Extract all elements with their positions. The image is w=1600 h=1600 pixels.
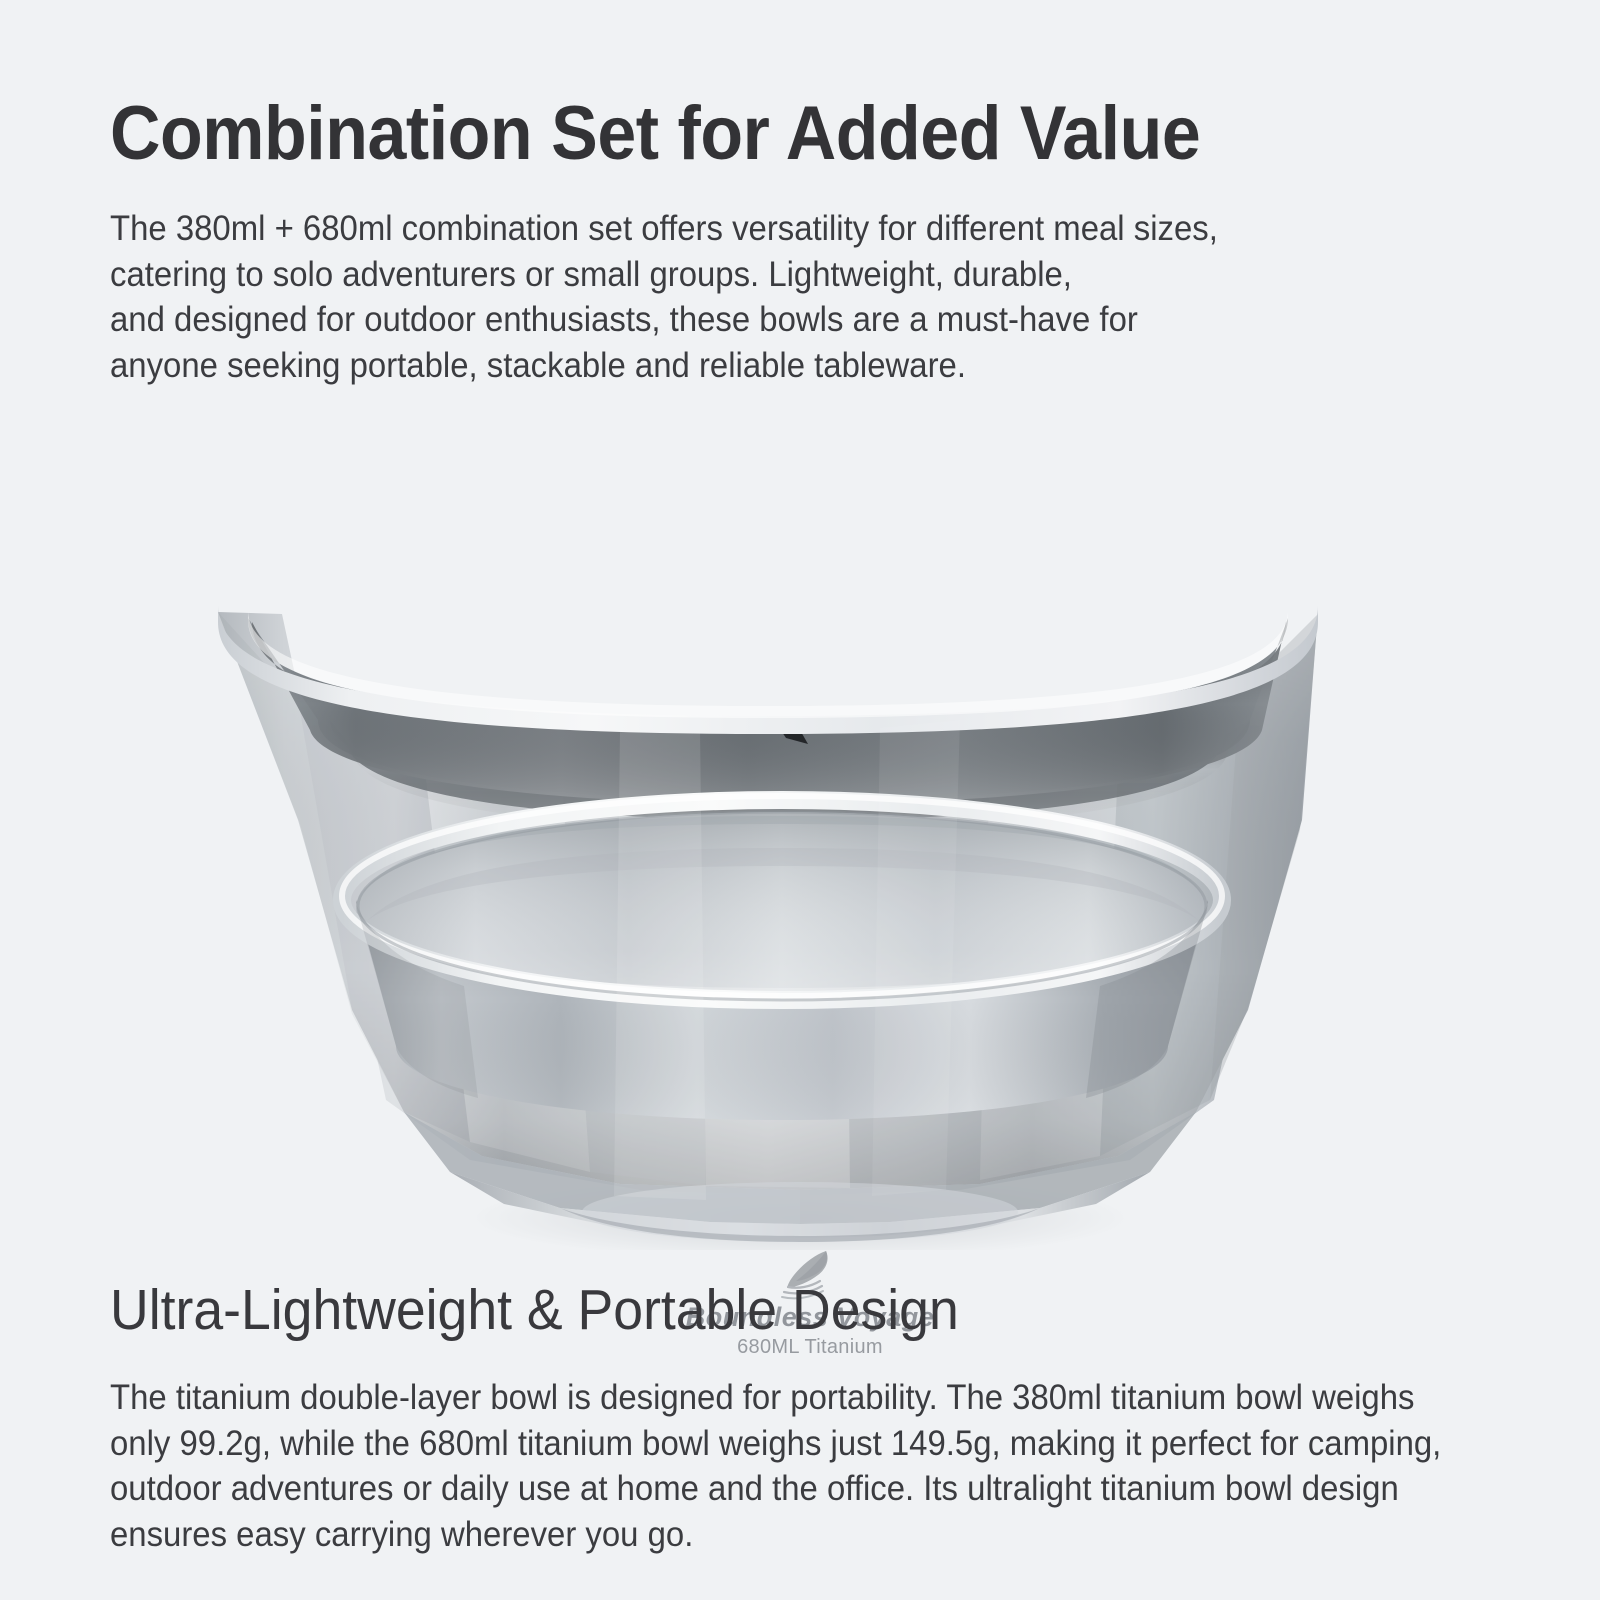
top-text-block: Combination Set for Added Value The 380m…	[110, 96, 1440, 388]
product-feature-page: Combination Set for Added Value The 380m…	[0, 0, 1600, 1600]
top-paragraph: The 380ml + 680ml combination set offers…	[110, 206, 1360, 388]
top-paragraph-line: anyone seeking portable, stackable and r…	[110, 343, 1360, 389]
bottom-paragraph-line: The titanium double-layer bowl is design…	[110, 1375, 1388, 1421]
top-paragraph-line: and designed for outdoor enthusiasts, th…	[110, 297, 1360, 343]
product-image: Boundless Voyage 680ML Titanium	[0, 400, 1600, 1250]
bottom-paragraph-line: only 99.2g, while the 680ml titanium bow…	[110, 1421, 1388, 1467]
nested-titanium-bowls-illustration	[0, 400, 1600, 1250]
bottom-paragraph-line: ensures easy carrying wherever you go.	[110, 1512, 1388, 1558]
top-paragraph-line: catering to solo adventurers or small gr…	[110, 252, 1360, 298]
section-subtitle: Ultra-Lightweight & Portable Design	[110, 1282, 1388, 1339]
page-title: Combination Set for Added Value	[110, 96, 1334, 172]
bottom-paragraph: The titanium double-layer bowl is design…	[110, 1375, 1388, 1557]
bottom-text-block: Ultra-Lightweight & Portable Design The …	[110, 1282, 1470, 1557]
top-paragraph-line: The 380ml + 680ml combination set offers…	[110, 206, 1360, 252]
bottom-paragraph-line: outdoor adventures or daily use at home …	[110, 1466, 1388, 1512]
